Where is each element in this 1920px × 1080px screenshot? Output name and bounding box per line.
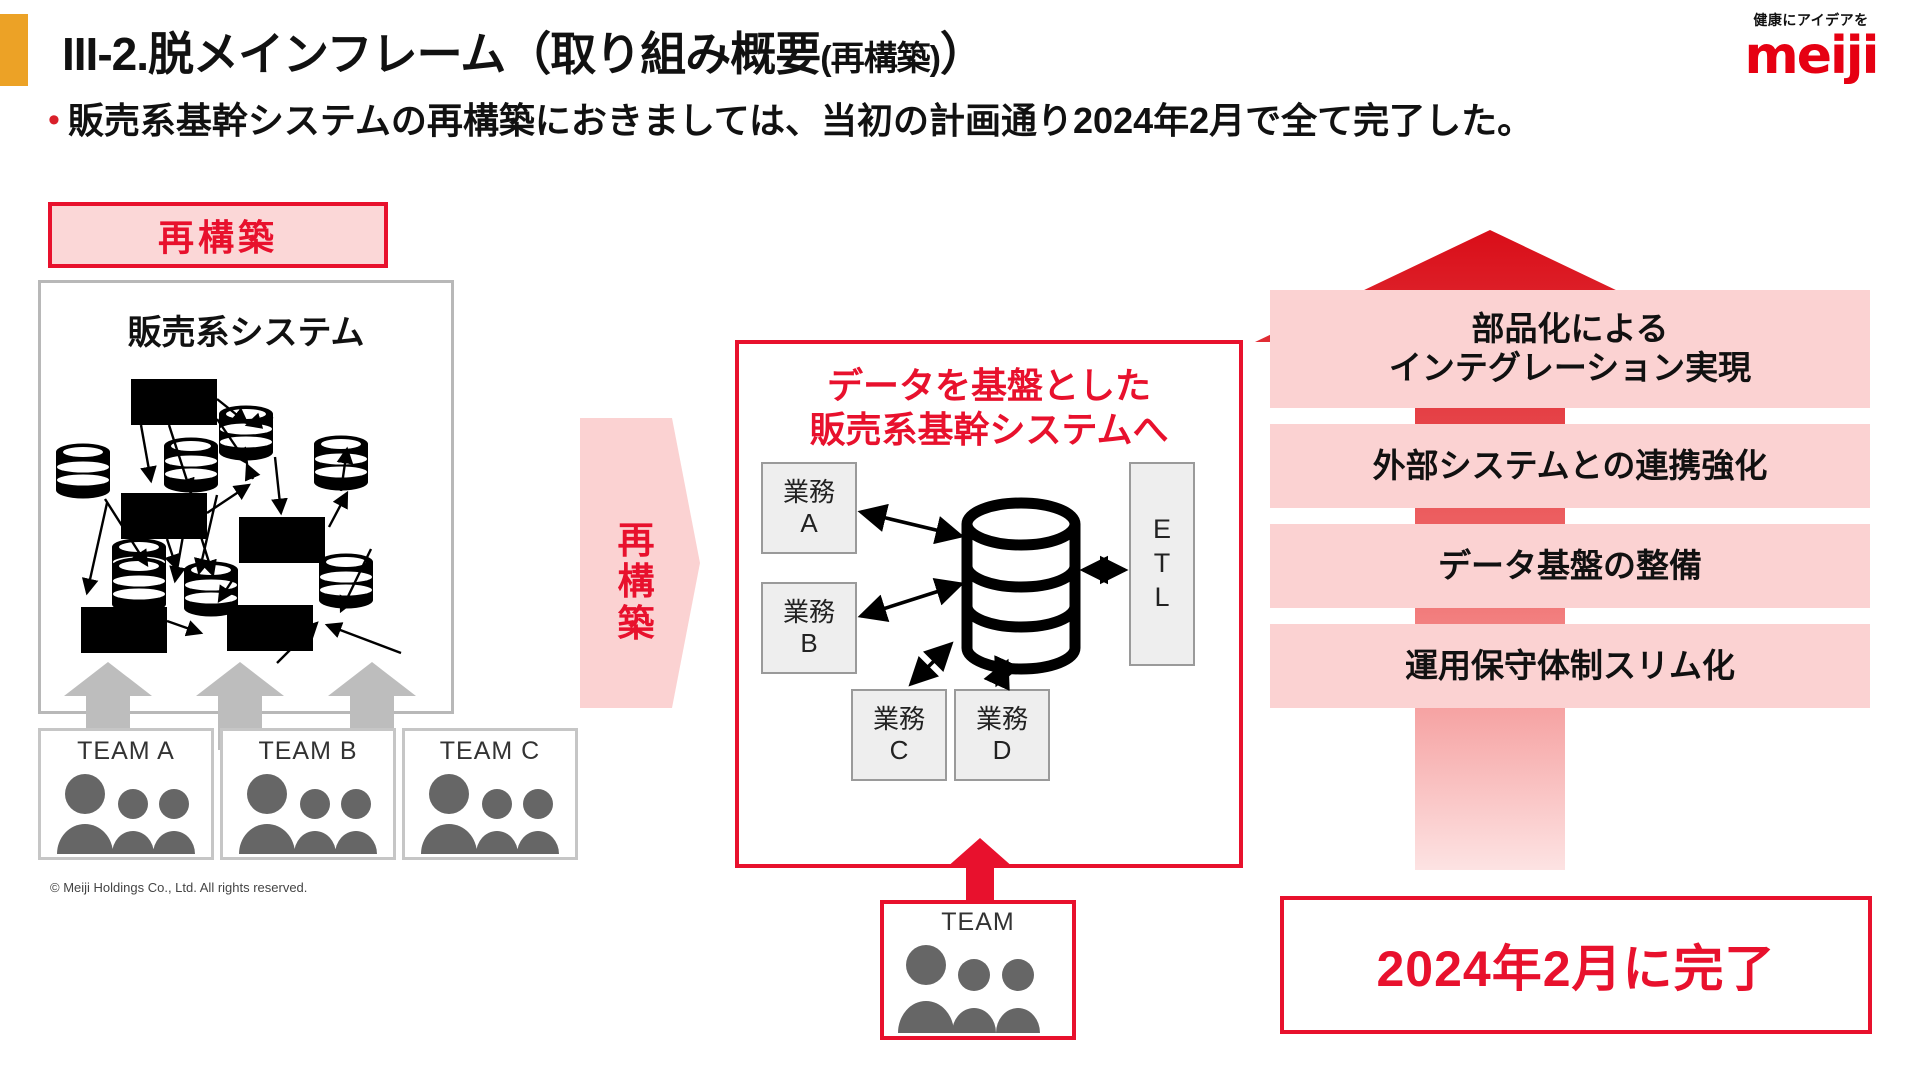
- people-icon: [233, 768, 383, 854]
- meiji-logo: 健康にアイデアを meiji: [1716, 10, 1906, 81]
- team-center-card: TEAM: [880, 900, 1076, 1040]
- logo-wordmark: meiji: [1716, 32, 1906, 81]
- chevron-char: 築: [596, 603, 676, 644]
- page-title-close: ）: [940, 28, 985, 80]
- benefit-bar-2: 外部システムとの連携強化: [1270, 424, 1870, 508]
- rebuild-label-text: 再構築: [158, 209, 278, 261]
- new-system-connections: [739, 344, 1239, 864]
- slide-root: III-2.脱メインフレーム（取り組み概要(再構築)） • 販売系基幹システムの…: [0, 0, 1920, 1080]
- chevron-char: 再: [596, 520, 676, 561]
- team-card: TEAM B: [220, 728, 396, 860]
- legacy-system-title: 販売系システム: [41, 305, 451, 354]
- benefit-line2: インテグレーション実現: [1389, 349, 1751, 388]
- benefit-bar-1: 部品化による インテグレーション実現: [1270, 290, 1870, 408]
- bullet-text: 販売系基幹システムの再構築におきましては、当初の計画通り2024年2月で全て完了…: [68, 98, 1533, 144]
- rebuild-label-box: 再構築: [48, 202, 388, 268]
- team-card-label: TEAM A: [77, 737, 175, 766]
- legacy-system-box: 販売系システム: [38, 280, 454, 714]
- people-icon: [51, 768, 201, 854]
- rebuild-chevron-label: 再 構 築: [596, 520, 676, 644]
- legacy-spaghetti-diagram: [41, 353, 451, 711]
- page-title-sub: (再構築): [820, 40, 940, 78]
- benefit-bar-4: 運用保守体制スリム化: [1270, 624, 1870, 708]
- completion-text: 2024年2月に完了: [1376, 929, 1775, 1001]
- page-title: III-2.脱メインフレーム（取り組み概要(再構築)）: [62, 18, 985, 84]
- new-system-box: データを基盤とした 販売系基幹システムへ 業務 A 業務 B 業務 C 業務 D…: [735, 340, 1243, 868]
- team-card-list: TEAM A TEAM B TEAM C: [38, 728, 578, 860]
- team-center-label: TEAM: [941, 908, 1014, 937]
- page-title-main: III-2.脱メインフレーム（取り組み概要: [62, 28, 820, 80]
- team-card-label: TEAM C: [440, 737, 540, 766]
- central-database-icon: [967, 503, 1075, 669]
- completion-box: 2024年2月に完了: [1280, 896, 1872, 1034]
- title-accent-bar: [0, 14, 28, 86]
- people-icon: [892, 937, 1064, 1033]
- people-icon: [415, 768, 565, 854]
- copyright-text: © Meiji Holdings Co., Ltd. All rights re…: [50, 880, 307, 895]
- team-card-label: TEAM B: [258, 737, 357, 766]
- team-card: TEAM C: [402, 728, 578, 860]
- benefit-bar-3: データ基盤の整備: [1270, 524, 1870, 608]
- benefit-line1: 部品化による: [1389, 310, 1751, 349]
- bullet-dot-icon: •: [48, 98, 60, 142]
- team-card: TEAM A: [38, 728, 214, 860]
- bullet-line: • 販売系基幹システムの再構築におきましては、当初の計画通り2024年2月で全て…: [48, 98, 1533, 144]
- chevron-char: 構: [596, 561, 676, 602]
